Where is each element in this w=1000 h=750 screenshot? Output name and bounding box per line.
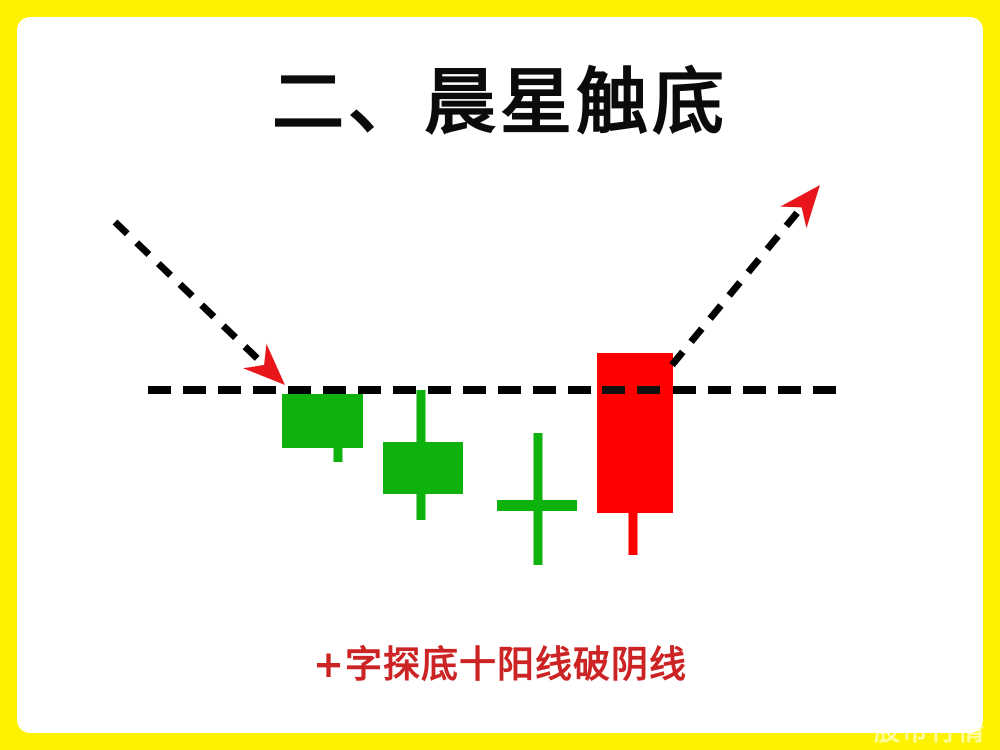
candle-1-bull <box>282 394 363 462</box>
candlestick-chart <box>17 17 983 733</box>
candle-4-body <box>597 353 673 513</box>
downtrend-arrow <box>115 222 285 385</box>
chart-svg <box>17 17 983 733</box>
candle-3-doji <box>497 433 577 565</box>
downtrend-arrow-line <box>115 222 263 364</box>
candle-3-wick <box>534 433 543 565</box>
candle-1-body <box>282 394 363 448</box>
white-card: 二、晨星触底 <box>17 17 983 733</box>
candle-2-body <box>383 442 463 494</box>
candle-4-bear <box>597 353 673 555</box>
chart-caption: +字探底十阳线破阴线 <box>17 641 983 689</box>
candle-3-body <box>497 500 577 511</box>
candle-2-bull <box>383 390 463 520</box>
uptrend-arrow <box>672 185 820 365</box>
uptrend-arrow-line <box>672 208 801 365</box>
poster-root: 二、晨星触底 <box>0 0 1000 750</box>
